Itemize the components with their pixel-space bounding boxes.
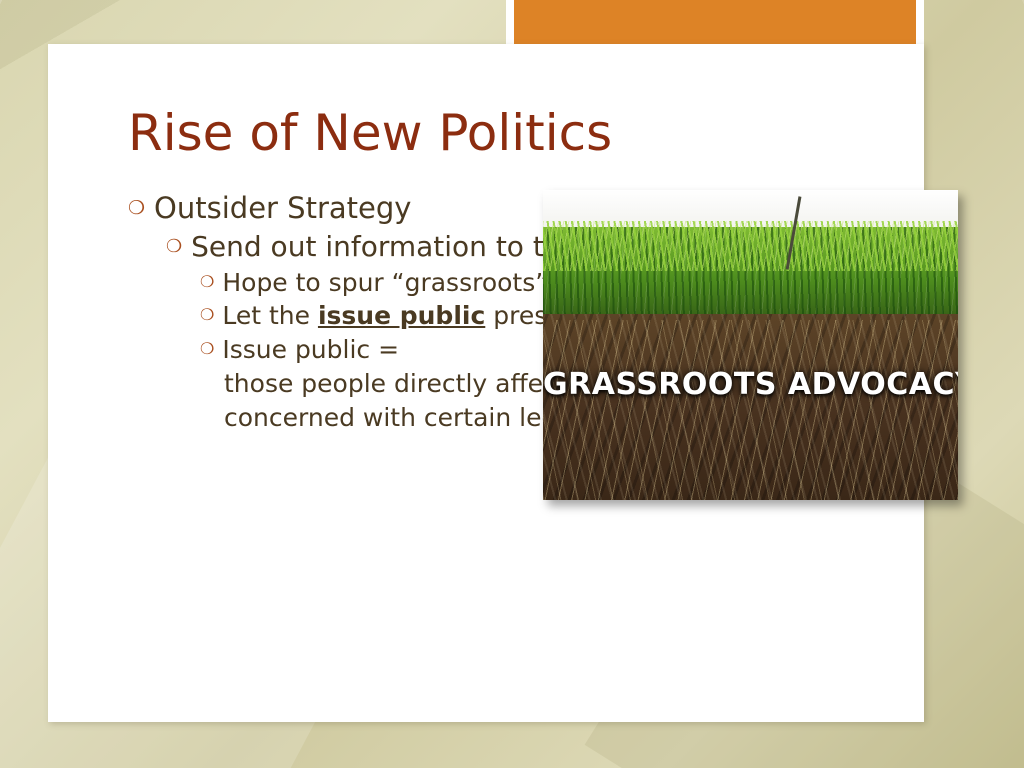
bullet-marker-icon: ❍	[200, 299, 214, 323]
grassroots-advocacy-photo: GRASSROOTS ADVOCACY	[543, 190, 958, 500]
bullet-marker-icon: ❍	[166, 229, 182, 256]
bullet-marker-icon: ❍	[200, 333, 214, 357]
presentation-slide: Rise of New Politics ❍ Outsider Strategy…	[0, 0, 1024, 768]
photo-caption: GRASSROOTS ADVOCACY	[543, 367, 958, 402]
bullet-text-prefix: Let the	[222, 301, 318, 330]
photo-roots	[543, 320, 958, 500]
photo-grass-tips	[543, 221, 958, 271]
slide-title: Rise of New Politics	[128, 108, 612, 158]
bullet-text-emphasis: issue public	[318, 301, 485, 330]
bullet-marker-icon: ❍	[128, 190, 145, 218]
bullet-marker-icon: ❍	[200, 266, 214, 290]
